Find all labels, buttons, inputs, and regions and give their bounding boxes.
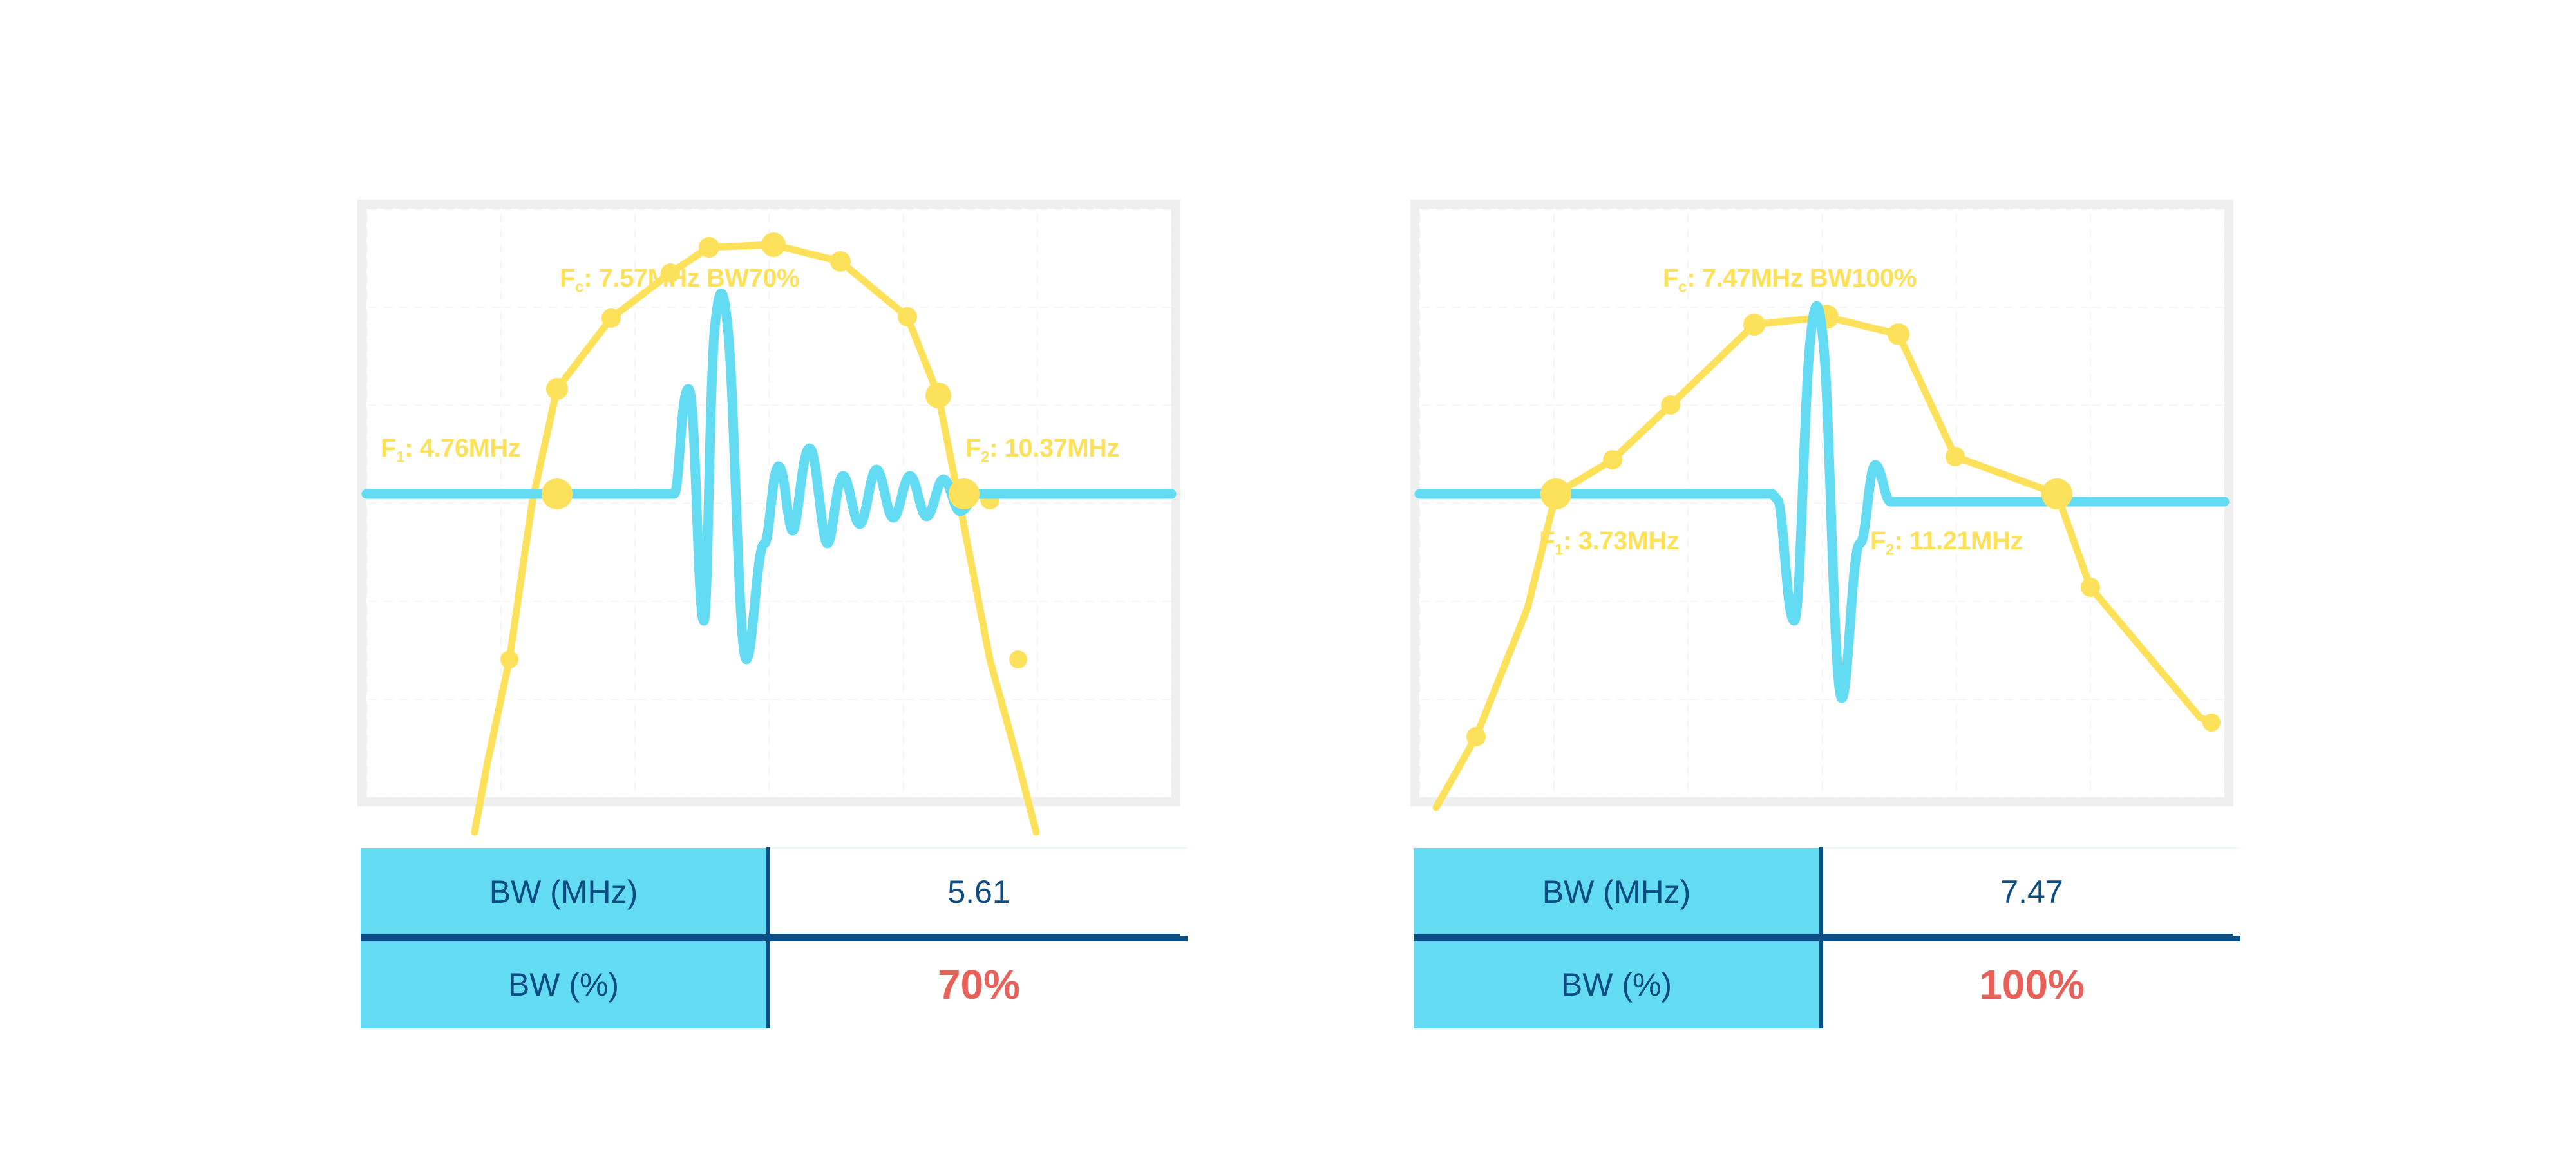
f2-marker [949, 478, 980, 509]
f1-subscript: 1 [396, 448, 404, 466]
measurement-panel-100: Fc: 7.47MHz BW100% F1: 3.73MHz F2: 11.21… [1410, 200, 2233, 806]
f1-text: : 4.76MHz [404, 434, 520, 462]
bw-pct-label: BW (%) [361, 938, 768, 1028]
bw-mhz-value: 5.61 [768, 848, 1188, 938]
f1-annotation-100: F1: 3.73MHz [1539, 528, 1679, 558]
f1-annotation-70: F1: 4.76MHz [381, 435, 520, 465]
fc-text: : 7.47MHz BW100% [1687, 264, 1917, 292]
f2-annotation-70: F2: 10.37MHz [965, 435, 1119, 465]
fc-annotation-100: Fc: 7.47MHz BW100% [1663, 265, 1917, 295]
f1-marker [1540, 478, 1571, 509]
f1-symbol: F [1539, 527, 1555, 555]
bw-pct-value: 70% [768, 938, 1188, 1028]
f2-symbol: F [965, 434, 981, 462]
f2-marker [2041, 478, 2072, 509]
chart-frame-100: Fc: 7.47MHz BW100% F1: 3.73MHz F2: 11.21… [1410, 200, 2233, 806]
fc-annotation-70: Fc: 7.57MHz BW70% [560, 265, 799, 295]
f2-subscript: 2 [1886, 541, 1894, 558]
table-rule-100 [1414, 934, 2233, 940]
bw-pct-value: 100% [1821, 938, 2240, 1028]
spectrum-plot-100 [1419, 209, 2224, 797]
f1-symbol: F [381, 434, 396, 462]
f1-subscript: 1 [1555, 541, 1563, 558]
bw-mhz-label: BW (MHz) [1414, 848, 1821, 938]
f2-subscript: 2 [981, 448, 989, 466]
f2-symbol: F [1870, 527, 1886, 555]
table-row: BW (MHz) 5.61 [361, 848, 1188, 938]
f2-annotation-100: F2: 11.21MHz [1870, 528, 2023, 558]
plot-area-100: Fc: 7.47MHz BW100% F1: 3.73MHz F2: 11.21… [1419, 209, 2224, 797]
table-rule-70 [361, 934, 1180, 940]
fc-subscript: c [1678, 278, 1687, 296]
bw-pct-label: BW (%) [1414, 938, 1821, 1028]
bw-mhz-label: BW (MHz) [361, 848, 768, 938]
f1-text: : 3.73MHz [1563, 527, 1679, 555]
fc-symbol: F [560, 264, 575, 292]
table-row: BW (MHz) 7.47 [1414, 848, 2240, 938]
measurement-panel-70: Fc: 7.57MHz BW70% F1: 4.76MHz F2: 10.37M… [357, 200, 1180, 806]
fc-subscript: c [575, 278, 583, 296]
fc-text: : 7.57MHz BW70% [583, 264, 799, 292]
f2-text: : 11.21MHz [1894, 527, 2023, 555]
bw-mhz-value: 7.47 [1821, 848, 2240, 938]
figure-canvas: Fc: 7.57MHz BW70% F1: 4.76MHz F2: 10.37M… [0, 0, 2576, 1154]
bw-pct-number: 70% [938, 961, 1020, 1008]
chart-frame-70: Fc: 7.57MHz BW70% F1: 4.76MHz F2: 10.37M… [357, 200, 1180, 806]
f2-text: : 10.37MHz [989, 434, 1119, 462]
fc-symbol: F [1663, 264, 1678, 292]
spectrum-plot-70 [366, 209, 1171, 797]
plot-area-70: Fc: 7.57MHz BW70% F1: 4.76MHz F2: 10.37M… [366, 209, 1171, 797]
table-row: BW (%) 70% [361, 938, 1188, 1028]
f1-marker [542, 478, 573, 509]
table-row: BW (%) 100% [1414, 938, 2240, 1028]
bw-pct-number: 100% [1979, 961, 2085, 1008]
